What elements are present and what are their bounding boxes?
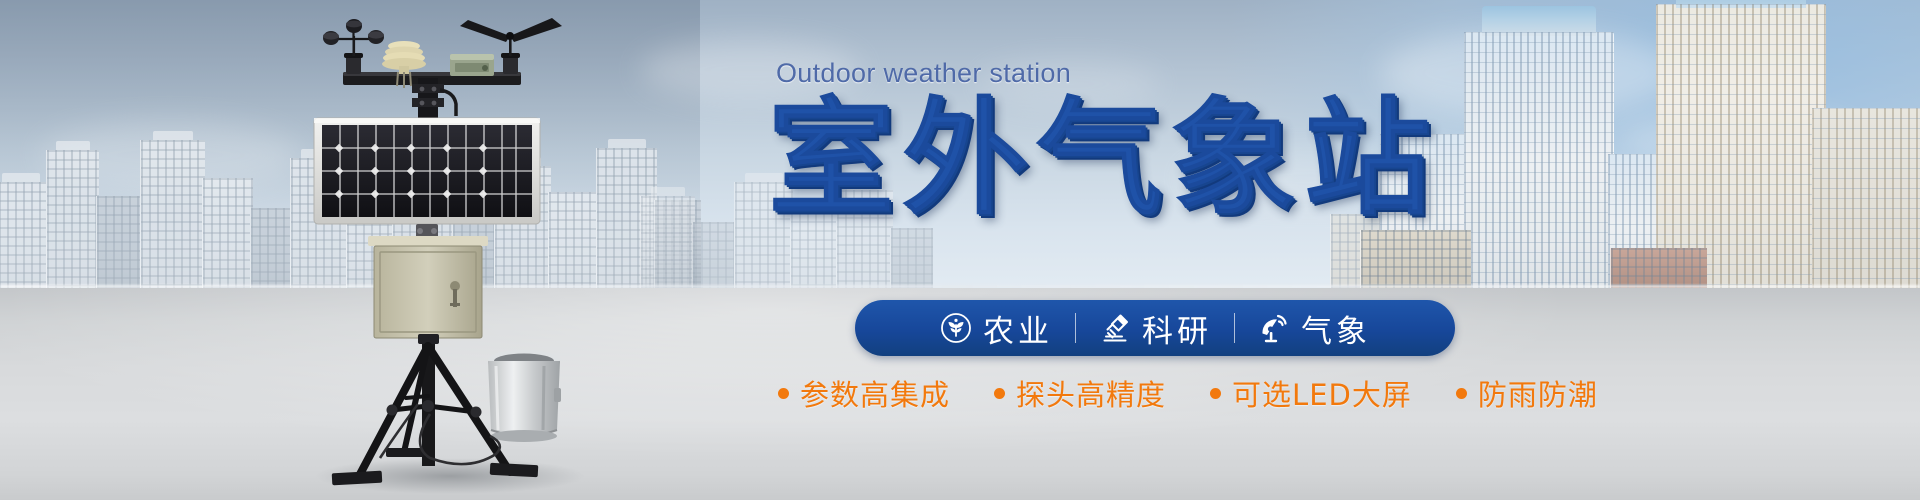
dot-bullet-icon	[1210, 388, 1221, 399]
pill-label-research: 科研	[1142, 306, 1212, 351]
hero-copy: Outdoor weather station 室外气象站	[760, 58, 1580, 224]
feature-label: 参数高集成	[800, 372, 950, 414]
dot-bullet-icon	[1456, 388, 1467, 399]
cup-anemometer	[323, 19, 384, 74]
satellite-dish-icon	[1257, 311, 1291, 345]
feature-item: 防雨防潮	[1456, 372, 1642, 414]
feature-item: 探头高精度	[994, 372, 1210, 414]
product-banner: Outdoor weather station 室外气象站 农业	[0, 0, 1920, 500]
pill-item-research[interactable]: 科研	[1076, 306, 1234, 351]
solar-panel	[314, 118, 540, 224]
feature-item: 可选LED大屏	[1210, 372, 1456, 414]
feature-label: 探头高精度	[1016, 372, 1166, 414]
application-pill: 农业 科研	[855, 300, 1455, 356]
crossarm-assembly	[343, 72, 521, 118]
page-title: 室外气象站	[768, 95, 1580, 224]
feature-label: 防雨防潮	[1478, 372, 1598, 414]
sprout-circle-icon	[939, 311, 973, 345]
pill-label-agriculture: 农业	[983, 306, 1053, 351]
pill-label-meteorology: 气象	[1301, 306, 1371, 351]
dot-bullet-icon	[994, 388, 1005, 399]
panel-mount	[416, 224, 438, 238]
dot-bullet-icon	[778, 388, 789, 399]
feature-list: 参数高集成 探头高精度 可选LED大屏 防雨防潮	[778, 372, 1642, 414]
control-cabinet	[368, 236, 488, 338]
feature-item: 参数高集成	[778, 372, 994, 414]
outdoor-weather-station-unit	[300, 6, 630, 494]
junction-box	[450, 54, 494, 76]
pill-item-meteorology[interactable]: 气象	[1235, 306, 1393, 351]
feature-label: 可选LED大屏	[1232, 372, 1412, 414]
microscope-icon	[1098, 311, 1132, 345]
rain-gauge-bucket	[488, 350, 561, 442]
pill-item-agriculture[interactable]: 农业	[917, 306, 1075, 351]
